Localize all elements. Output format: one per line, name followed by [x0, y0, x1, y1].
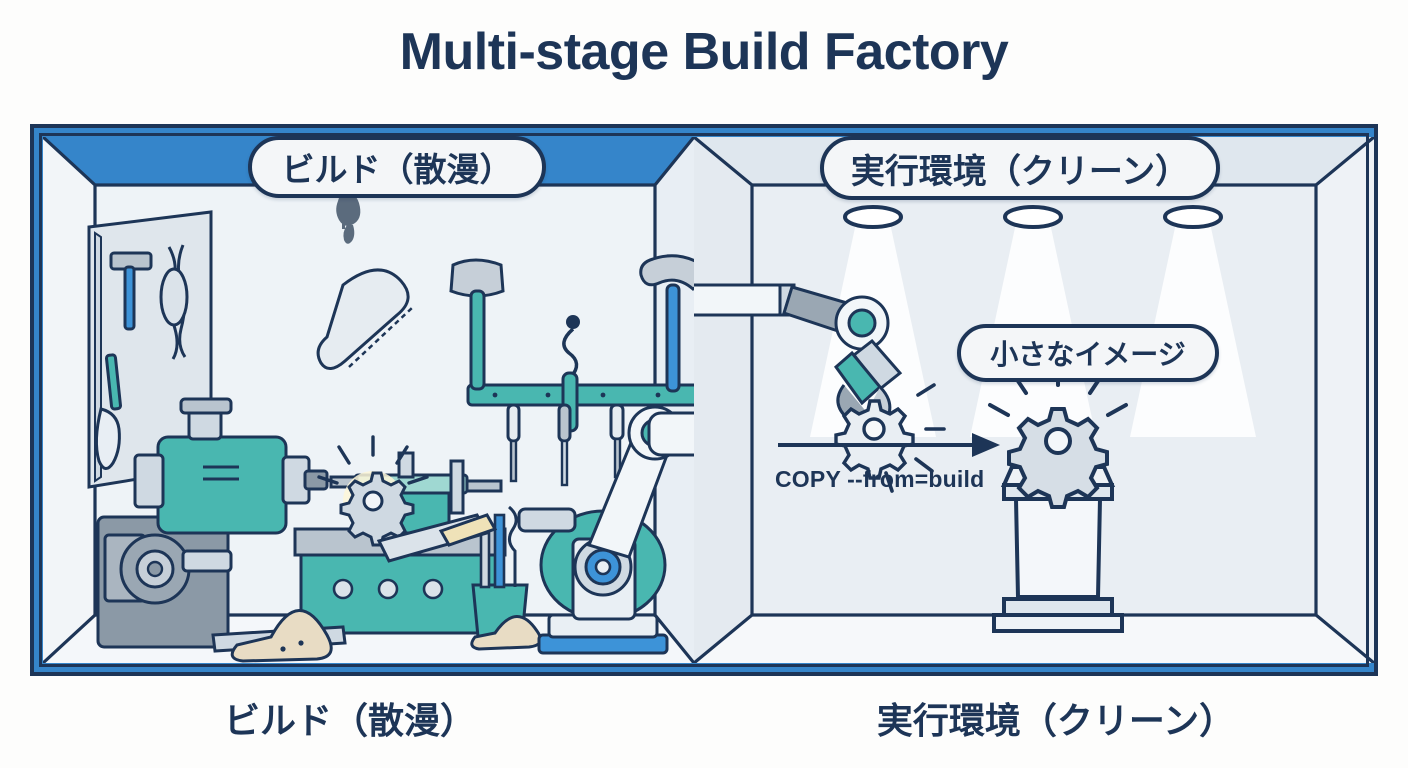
copy-from-build-label: COPY --from=build: [775, 466, 984, 493]
badge-runtime-stage: 実行環境（クリーン）: [820, 136, 1220, 200]
frame-inner-outline: [39, 133, 1369, 667]
badge-small-image: 小さなイメージ: [957, 324, 1219, 382]
caption-runtime-stage: 実行環境（クリーン）: [706, 692, 1406, 744]
caption-build-stage: ビルド（散漫）: [0, 692, 700, 744]
diagram-canvas: Multi-stage Build Factory: [0, 0, 1408, 768]
badge-build-stage: ビルド（散漫）: [248, 136, 546, 198]
page-title: Multi-stage Build Factory: [0, 24, 1408, 81]
